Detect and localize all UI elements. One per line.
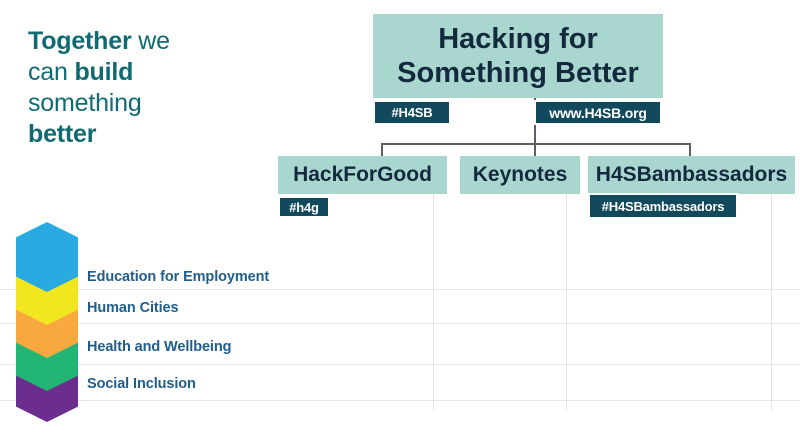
badge-hashtag-h4sb[interactable]: #H4SB: [373, 100, 451, 125]
pillar-label-education-for-employment: Education for Employment: [87, 269, 269, 285]
grid-line-horizontal: [0, 323, 800, 324]
headline-word-can: can: [28, 58, 68, 86]
badge-website-url[interactable]: www.H4SB.org: [534, 100, 662, 125]
slide-canvas: Together we can build something better E…: [0, 0, 800, 439]
slide-headline: Together we can build something better: [28, 26, 208, 150]
connector-drop-keynotes: [534, 143, 536, 157]
grid-line-horizontal: [0, 289, 800, 290]
org-node-h4sbambassadors[interactable]: H4SBambassadors: [588, 156, 795, 194]
pillar-hexagon-stack: [16, 222, 78, 422]
grid-line-vertical: [566, 193, 567, 411]
connector-drop-ambassadors: [689, 143, 691, 157]
headline-word-together: Together: [28, 27, 132, 55]
pillar-label-human-cities: Human Cities: [87, 300, 178, 316]
connector-drop-hackforgood: [381, 143, 383, 157]
grid-line-vertical: [433, 193, 434, 411]
org-node-keynotes[interactable]: Keynotes: [460, 156, 580, 194]
pillar-label-health-and-wellbeing: Health and Wellbeing: [87, 339, 231, 355]
badge-hashtag-h4sbambassadors[interactable]: #H4SBambassadors: [588, 193, 738, 219]
org-node-root[interactable]: Hacking for Something Better: [373, 14, 663, 98]
org-node-hackforgood[interactable]: HackForGood: [278, 156, 447, 194]
grid-line-vertical: [771, 193, 772, 411]
badge-hashtag-h4g[interactable]: #h4g: [278, 196, 330, 218]
grid-line-horizontal: [0, 364, 800, 365]
headline-word-we: we: [138, 27, 170, 55]
headline-word-build: build: [74, 58, 133, 86]
pillar-label-social-inclusion: Social Inclusion: [87, 376, 196, 392]
headline-word-better: better: [28, 120, 96, 148]
headline-word-something: something: [28, 89, 142, 117]
connector-horizontal-bus: [381, 143, 690, 145]
grid-line-horizontal: [0, 400, 800, 401]
